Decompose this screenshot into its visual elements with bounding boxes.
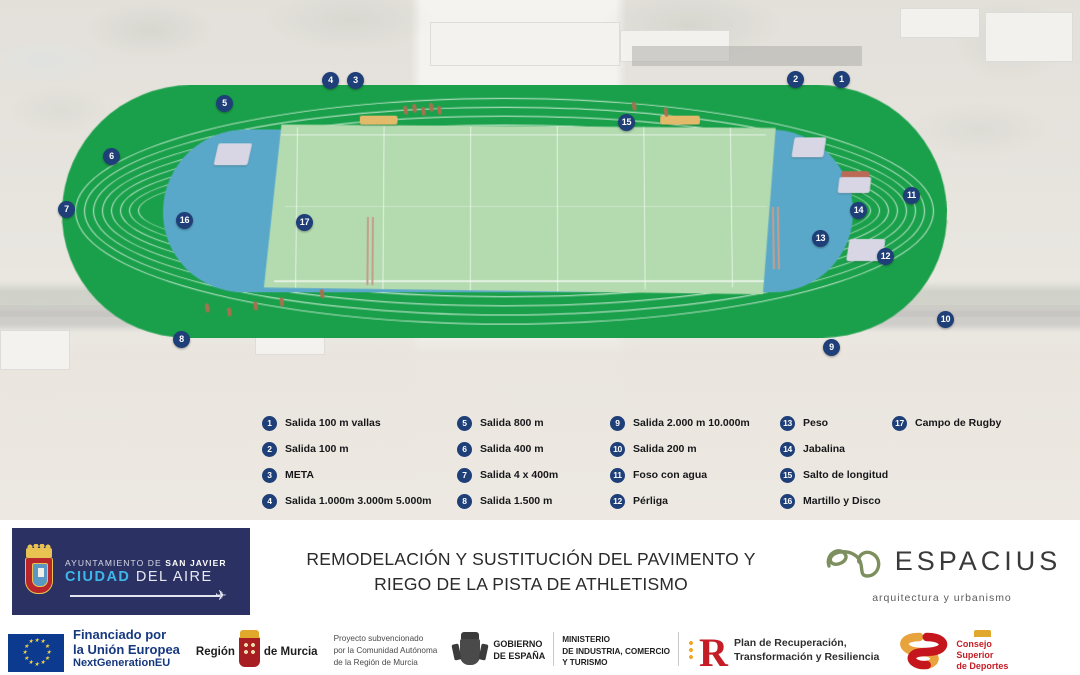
high-jump-mat [213,143,252,165]
prtr-line2: Transformación y Resiliencia [734,651,879,665]
legend-number-1: 1 [262,416,277,431]
legend-number-17: 17 [892,416,907,431]
legend-number-11: 11 [610,468,625,483]
legend-label-11: Foso con agua [633,469,707,481]
legend-item-1[interactable]: 1Salida 100 m vallas [262,410,462,436]
plan-marker-14[interactable]: 14 [850,202,867,219]
legend-number-7: 7 [457,468,472,483]
plan-marker-12[interactable]: 12 [877,248,894,265]
legend-label-8: Salida 1.500 m [480,495,552,507]
legend-number-9: 9 [610,416,625,431]
long-jump-pad [360,116,398,125]
legend-label-16: Martillo y Disco [803,495,881,507]
plan-marker-15[interactable]: 15 [618,114,635,131]
eu-flag-icon: ★★★★★★★★★★★★ [8,634,64,672]
water-jump-pit [838,177,872,193]
legend-number-10: 10 [610,442,625,457]
city-logo-line2: CIUDAD DEL AIRE [65,569,227,585]
legend-number-13: 13 [780,416,795,431]
legend-label-12: Pérliga [633,495,668,507]
murcia-word-left: Región [196,646,235,658]
legend-number-4: 4 [262,494,277,509]
legend-label-14: Jabalina [803,443,845,455]
legend-item-5[interactable]: 5Salida 800 m [457,410,612,436]
legend: 1Salida 100 m vallas2Salida 100 m3META4S… [262,410,1072,516]
legend-label-7: Salida 4 x 400m [480,469,558,481]
legend-number-8: 8 [457,494,472,509]
prtr-r-icon: R [687,631,727,671]
plan-marker-17[interactable]: 17 [296,214,313,231]
city-logo-name: SAN JAVIER [165,558,226,568]
gobierno-line1: GOBIERNO [493,639,545,651]
legend-item-14[interactable]: 14Jabalina [780,436,915,462]
plan-marker-3[interactable]: 3 [347,72,364,89]
legend-item-10[interactable]: 10Salida 200 m [610,436,780,462]
subsidy-line3: de la Región de Murcia [334,657,438,669]
legend-item-16[interactable]: 16Martillo y Disco [780,488,915,514]
legend-number-16: 16 [780,494,795,509]
legend-number-15: 15 [780,468,795,483]
logo-underline [70,595,220,597]
espacius-name: ESPACIUS [895,546,1062,577]
legend-item-8[interactable]: 8Salida 1.500 m [457,488,612,514]
subsidy-line1: Proyecto subvencionado [334,633,438,645]
legend-label-17: Campo de Rugby [915,417,1001,429]
legend-number-12: 12 [610,494,625,509]
legend-column-5: 17Campo de Rugby [892,410,1062,436]
prtr-line1: Plan de Recuperación, [734,637,879,651]
plane-icon: ✈ [215,587,227,604]
legend-item-17[interactable]: 17Campo de Rugby [892,410,1062,436]
plan-marker-11[interactable]: 11 [903,187,920,204]
espacius-tagline: arquitectura y urbanismo [872,592,1012,604]
csd-block: Consejo Superior de Deportes [887,623,1016,675]
plan-marker-8[interactable]: 8 [173,331,190,348]
title-bar: AYUNTAMIENTO DE SAN JAVIER CIUDAD DEL AI… [0,520,1080,623]
legend-label-10: Salida 200 m [633,443,697,455]
san-javier-shield-icon [22,548,56,596]
legend-label-9: Salida 2.000 m 10.000m [633,417,750,429]
crown-icon [974,630,991,637]
murcia-word-right: de Murcia [264,646,318,658]
project-title-line1: REMODELACIÓN Y SUSTITUCIÓN DEL PAVIMENTO… [306,547,755,572]
plan-marker-7[interactable]: 7 [58,201,75,218]
subsidy-line2: por la Comunidad Autónoma [334,645,438,657]
csd-line1: Consejo [956,639,1008,650]
csd-line2: Superior [956,650,1008,661]
legend-number-5: 5 [457,416,472,431]
project-title: REMODELACIÓN Y SUSTITUCIÓN DEL PAVIMENTO… [250,520,812,623]
legend-item-7[interactable]: 7Salida 4 x 400m [457,462,612,488]
spain-coat-of-arms-icon [453,632,487,670]
legend-item-11[interactable]: 11Foso con agua [610,462,780,488]
plan-marker-9[interactable]: 9 [823,339,840,356]
city-logo-ciudad: CIUDAD [65,569,130,585]
legend-label-4: Salida 1.000m 3.000m 5.000m [285,495,432,507]
ministerio-line1: MINISTERIO [562,634,670,646]
plan-marker-5[interactable]: 5 [216,95,233,112]
legend-item-15[interactable]: 15Salto de longitud [780,462,915,488]
rugby-pitch [264,125,778,295]
prtr-block: R Plan de Recuperación, Transformación y… [679,623,887,675]
legend-number-6: 6 [457,442,472,457]
project-title-line2: RIEGO DE LA PISTA DE ATHLETISMO [374,572,688,597]
legend-label-1: Salida 100 m vallas [285,417,381,429]
legend-item-6[interactable]: 6Salida 400 m [457,436,612,462]
espacius-swirl-icon [823,540,889,584]
funding-bar: ★★★★★★★★★★★★ Financiado por la Unión Eur… [0,623,1080,675]
stadium-plan-page: 1234567891011121314151617 1Salida 100 m … [0,0,1080,675]
plan-marker-6[interactable]: 6 [103,148,120,165]
legend-column-2: 5Salida 800 m6Salida 400 m7Salida 4 x 40… [457,410,612,514]
legend-item-3[interactable]: 3META [262,462,462,488]
long-jump-pad [660,116,700,125]
san-javier-city-logo: AYUNTAMIENTO DE SAN JAVIER CIUDAD DEL AI… [12,528,250,615]
csd-swoosh-icon [895,631,951,671]
legend-item-9[interactable]: 9Salida 2.000 m 10.000m [610,410,780,436]
pole-vault-mat [791,137,826,157]
legend-item-4[interactable]: 4Salida 1.000m 3.000m 5.000m [262,488,462,514]
legend-number-14: 14 [780,442,795,457]
plan-marker-16[interactable]: 16 [176,212,193,229]
legend-item-12[interactable]: 12Pérliga [610,488,780,514]
ministerio-line3: Y TURISMO [562,657,670,669]
legend-label-15: Salto de longitud [803,469,888,481]
athletics-track-diagram: 1234567891011121314151617 [0,0,1080,400]
legend-item-2[interactable]: 2Salida 100 m [262,436,462,462]
legend-number-3: 3 [262,468,277,483]
murcia-crest-icon [239,637,260,667]
plan-marker-2[interactable]: 2 [787,71,804,88]
legend-number-2: 2 [262,442,277,457]
plan-marker-1[interactable]: 1 [833,71,850,88]
running-lanes [64,90,945,333]
plan-marker-4[interactable]: 4 [322,72,339,89]
csd-line3: de Deportes [956,661,1008,672]
city-logo-line1: AYUNTAMIENTO DE SAN JAVIER [65,558,227,568]
region-murcia-block: Región de Murcia [188,623,326,675]
plan-marker-13[interactable]: 13 [812,230,829,247]
track-kerb [59,85,951,338]
plan-marker-10[interactable]: 10 [937,311,954,328]
legend-column-3: 9Salida 2.000 m 10.000m10Salida 200 m11F… [610,410,780,514]
ministerio-block: MINISTERIO DE INDUSTRIA, COMERCIO Y TURI… [554,623,678,675]
city-logo-del-aire: DEL AIRE [130,569,212,585]
espacius-logo: ESPACIUS arquitectura y urbanismo [812,520,1080,623]
legend-label-5: Salida 800 m [480,417,544,429]
legend-column-1: 1Salida 100 m vallas2Salida 100 m3META4S… [262,410,462,514]
eu-funding-block: ★★★★★★★★★★★★ Financiado por la Unión Eur… [0,623,188,675]
city-logo-prefix: AYUNTAMIENTO DE [65,558,165,568]
subsidy-note-block: Proyecto subvencionado por la Comunidad … [326,623,446,675]
legend-label-2: Salida 100 m [285,443,349,455]
eu-line3: NextGenerationEU [73,657,180,669]
ministerio-line2: DE INDUSTRIA, COMERCIO [562,646,670,658]
legend-label-13: Peso [803,417,828,429]
eu-line1: Financiado por [73,628,180,643]
gobierno-espana-block: GOBIERNO DE ESPAÑA [445,623,553,675]
legend-label-6: Salida 400 m [480,443,544,455]
eu-line2: la Unión Europea [73,643,180,658]
legend-label-3: META [285,469,314,481]
gobierno-line2: DE ESPAÑA [493,651,545,663]
